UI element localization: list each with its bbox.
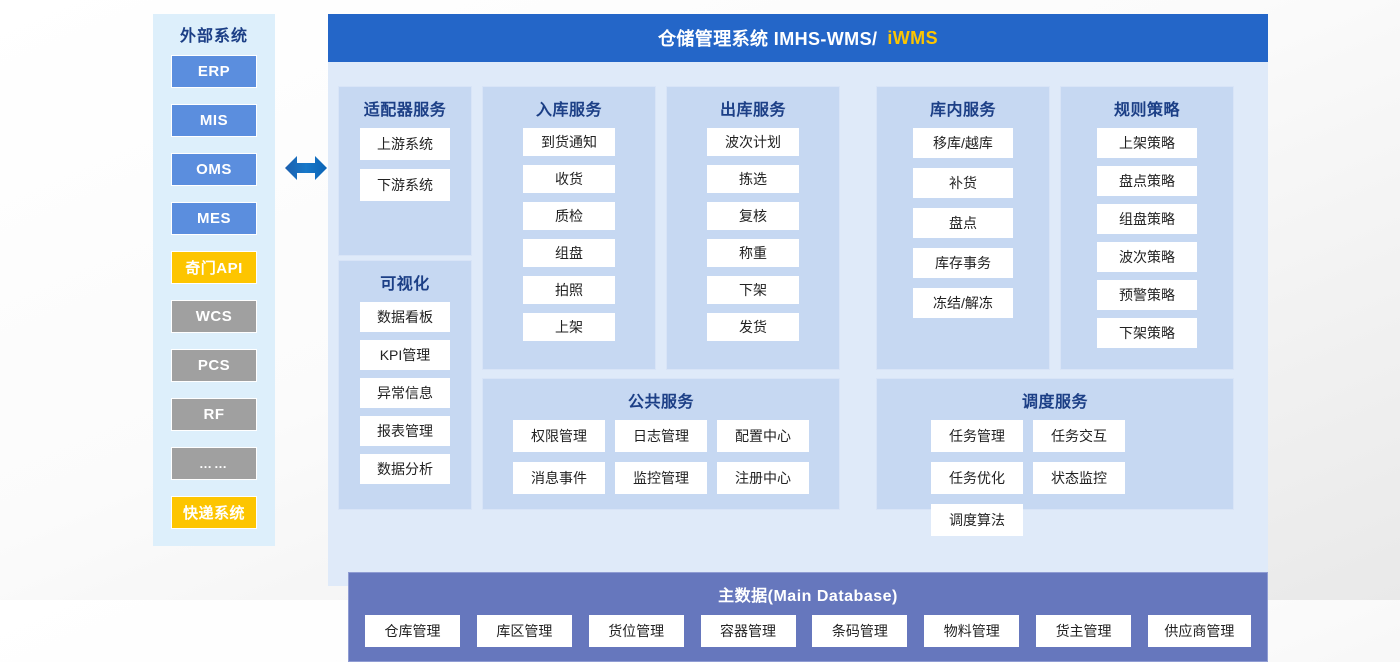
panel-adapter-title: 适配器服务 bbox=[339, 96, 471, 120]
service-panel-area: 适配器服务 上游系统 下游系统 可视化 数据看板 KPI管理 异常信息 报表管理… bbox=[338, 72, 1258, 577]
panel-dispatch-chip-list: 任务管理 任务交互 任务优化 状态监控 调度算法 bbox=[877, 420, 1233, 536]
chip-picking[interactable]: 拣选 bbox=[707, 165, 799, 193]
external-item-more[interactable]: …… bbox=[171, 447, 257, 480]
chip-zone-management[interactable]: 库区管理 bbox=[477, 615, 572, 647]
panel-main-database: 主数据(Main Database) 仓库管理 库区管理 货位管理 容器管理 条… bbox=[348, 572, 1268, 662]
chip-transfer-crossdock[interactable]: 移库/越库 bbox=[913, 128, 1013, 158]
chip-data-analysis[interactable]: 数据分析 bbox=[360, 454, 450, 484]
chip-putaway-strategy[interactable]: 上架策略 bbox=[1097, 128, 1197, 158]
external-systems-title: 外部系统 bbox=[153, 22, 275, 46]
chip-registry-center[interactable]: 注册中心 bbox=[717, 462, 809, 494]
chip-weighing[interactable]: 称重 bbox=[707, 239, 799, 267]
panel-outbound-title: 出库服务 bbox=[667, 96, 839, 120]
external-item-rf[interactable]: RF bbox=[171, 398, 257, 431]
panel-main-database-title: 主数据(Main Database) bbox=[349, 582, 1267, 606]
chip-owner-management[interactable]: 货主管理 bbox=[1036, 615, 1131, 647]
chip-stocktaking[interactable]: 盘点 bbox=[913, 208, 1013, 238]
external-systems-panel: 外部系统 ERP MIS OMS MES 奇门API WCS PCS RF ……… bbox=[153, 14, 275, 546]
bidirectional-arrow-icon bbox=[283, 150, 329, 186]
panel-rule-strategy: 规则策略 上架策略 盘点策略 组盘策略 波次策略 预警策略 下架策略 bbox=[1060, 86, 1234, 370]
chip-quality-check[interactable]: 质检 bbox=[523, 202, 615, 230]
panel-outbound-service: 出库服务 波次计划 拣选 复核 称重 下架 发货 bbox=[666, 86, 840, 370]
chip-photograph[interactable]: 拍照 bbox=[523, 276, 615, 304]
chip-freeze-unfreeze[interactable]: 冻结/解冻 bbox=[913, 288, 1013, 318]
panel-internal-chip-list: 移库/越库 补货 盘点 库存事务 冻结/解冻 bbox=[877, 128, 1049, 318]
chip-message-event[interactable]: 消息事件 bbox=[513, 462, 605, 494]
chip-inventory-transaction[interactable]: 库存事务 bbox=[913, 248, 1013, 278]
panel-dispatch-service: 调度服务 任务管理 任务交互 任务优化 状态监控 调度算法 bbox=[876, 378, 1234, 510]
panel-adapter-chip-list: 上游系统 下游系统 bbox=[339, 128, 471, 201]
chip-warehouse-management[interactable]: 仓库管理 bbox=[365, 615, 460, 647]
chip-task-optimization[interactable]: 任务优化 bbox=[931, 462, 1023, 494]
chip-task-interaction[interactable]: 任务交互 bbox=[1033, 420, 1125, 452]
external-item-mis[interactable]: MIS bbox=[171, 104, 257, 137]
chip-rechecking[interactable]: 复核 bbox=[707, 202, 799, 230]
external-item-pcs[interactable]: PCS bbox=[171, 349, 257, 382]
external-item-oms[interactable]: OMS bbox=[171, 153, 257, 186]
panel-public-chip-list: 权限管理 日志管理 配置中心 消息事件 监控管理 注册中心 bbox=[483, 420, 839, 494]
wms-container: 仓储管理系统 IMHS-WMS/ iWMS 适配器服务 上游系统 下游系统 可视… bbox=[328, 14, 1268, 586]
panel-public-title: 公共服务 bbox=[483, 388, 839, 412]
chip-status-monitoring[interactable]: 状态监控 bbox=[1033, 462, 1125, 494]
external-item-qimen-api[interactable]: 奇门API bbox=[171, 251, 257, 284]
chip-monitor-management[interactable]: 监控管理 bbox=[615, 462, 707, 494]
chip-material-management[interactable]: 物料管理 bbox=[924, 615, 1019, 647]
wms-title-main: 仓储管理系统 IMHS-WMS/ bbox=[658, 25, 877, 51]
chip-downstream-system[interactable]: 下游系统 bbox=[360, 169, 450, 201]
chip-pickdown-strategy[interactable]: 下架策略 bbox=[1097, 318, 1197, 348]
panel-outbound-chip-list: 波次计划 拣选 复核 称重 下架 发货 bbox=[667, 128, 839, 341]
external-item-express[interactable]: 快递系统 bbox=[171, 496, 257, 529]
chip-palletizing-strategy[interactable]: 组盘策略 bbox=[1097, 204, 1197, 234]
chip-config-center[interactable]: 配置中心 bbox=[717, 420, 809, 452]
external-item-mes[interactable]: MES bbox=[171, 202, 257, 235]
panel-visualization: 可视化 数据看板 KPI管理 异常信息 报表管理 数据分析 bbox=[338, 260, 472, 510]
panel-adapter-service: 适配器服务 上游系统 下游系统 bbox=[338, 86, 472, 256]
chip-data-dashboard[interactable]: 数据看板 bbox=[360, 302, 450, 332]
wms-header-banner: 仓储管理系统 IMHS-WMS/ iWMS bbox=[328, 14, 1268, 62]
chip-arrival-notice[interactable]: 到货通知 bbox=[523, 128, 615, 156]
panel-public-service: 公共服务 权限管理 日志管理 配置中心 消息事件 监控管理 注册中心 bbox=[482, 378, 840, 510]
chip-stocktaking-strategy[interactable]: 盘点策略 bbox=[1097, 166, 1197, 196]
chip-receiving[interactable]: 收货 bbox=[523, 165, 615, 193]
chip-upstream-system[interactable]: 上游系统 bbox=[360, 128, 450, 160]
chip-supplier-management[interactable]: 供应商管理 bbox=[1148, 615, 1251, 647]
panel-inbound-service: 入库服务 到货通知 收货 质检 组盘 拍照 上架 bbox=[482, 86, 656, 370]
chip-putaway[interactable]: 上架 bbox=[523, 313, 615, 341]
chip-permission-management[interactable]: 权限管理 bbox=[513, 420, 605, 452]
chip-container-management[interactable]: 容器管理 bbox=[701, 615, 796, 647]
chip-shipping[interactable]: 发货 bbox=[707, 313, 799, 341]
chip-alert-strategy[interactable]: 预警策略 bbox=[1097, 280, 1197, 310]
panel-dispatch-title: 调度服务 bbox=[877, 388, 1233, 412]
external-item-wcs[interactable]: WCS bbox=[171, 300, 257, 333]
panel-inbound-chip-list: 到货通知 收货 质检 组盘 拍照 上架 bbox=[483, 128, 655, 341]
chip-wave-plan[interactable]: 波次计划 bbox=[707, 128, 799, 156]
panel-main-database-chip-list: 仓库管理 库区管理 货位管理 容器管理 条码管理 物料管理 货主管理 供应商管理 bbox=[349, 615, 1267, 647]
chip-report-management[interactable]: 报表管理 bbox=[360, 416, 450, 446]
panel-inbound-title: 入库服务 bbox=[483, 96, 655, 120]
panel-rule-strategy-chip-list: 上架策略 盘点策略 组盘策略 波次策略 预警策略 下架策略 bbox=[1061, 128, 1233, 348]
wms-title-accent: iWMS bbox=[887, 28, 938, 49]
external-item-erp[interactable]: ERP bbox=[171, 55, 257, 88]
chip-log-management[interactable]: 日志管理 bbox=[615, 420, 707, 452]
chip-barcode-management[interactable]: 条码管理 bbox=[812, 615, 907, 647]
chip-location-management[interactable]: 货位管理 bbox=[589, 615, 684, 647]
chip-dispatch-algorithm[interactable]: 调度算法 bbox=[931, 504, 1023, 536]
chip-palletizing[interactable]: 组盘 bbox=[523, 239, 615, 267]
panel-visualization-chip-list: 数据看板 KPI管理 异常信息 报表管理 数据分析 bbox=[339, 302, 471, 484]
panel-internal-title: 库内服务 bbox=[877, 96, 1049, 120]
panel-rule-strategy-title: 规则策略 bbox=[1061, 96, 1233, 120]
panel-internal-service: 库内服务 移库/越库 补货 盘点 库存事务 冻结/解冻 bbox=[876, 86, 1050, 370]
chip-task-management[interactable]: 任务管理 bbox=[931, 420, 1023, 452]
chip-picking-down[interactable]: 下架 bbox=[707, 276, 799, 304]
architecture-diagram: 外部系统 ERP MIS OMS MES 奇门API WCS PCS RF ……… bbox=[0, 0, 1400, 600]
chip-kpi-management[interactable]: KPI管理 bbox=[360, 340, 450, 370]
chip-exception-info[interactable]: 异常信息 bbox=[360, 378, 450, 408]
chip-replenishment[interactable]: 补货 bbox=[913, 168, 1013, 198]
chip-wave-strategy[interactable]: 波次策略 bbox=[1097, 242, 1197, 272]
panel-visualization-title: 可视化 bbox=[339, 270, 471, 294]
